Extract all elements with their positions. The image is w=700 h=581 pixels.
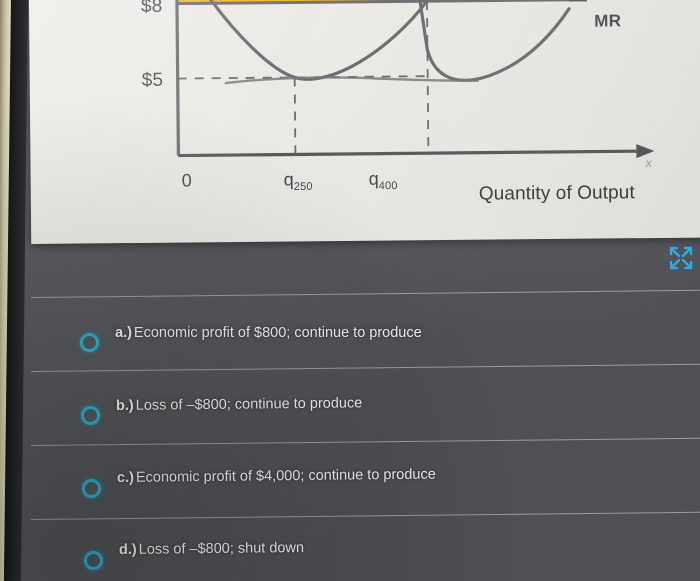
radio-button-a[interactable]: [80, 333, 99, 352]
option-label-c: c.)Economic profit of $4,000; continue t…: [117, 467, 436, 486]
q250-subscript: 250: [294, 181, 313, 193]
option-row-b[interactable]: b.)Loss of –$800; continue to produce: [25, 371, 700, 445]
screenshot-root: $8 $5 0 q250 q400 MR x Quantity of Outpu…: [0, 0, 700, 581]
radio-button-d[interactable]: [84, 551, 103, 570]
q250-base: q: [284, 169, 294, 189]
atc-curve: [208, 0, 467, 80]
chart-inner: $8 $5 0 q250 q400 MR x Quantity of Outpu…: [28, 0, 700, 244]
option-row-a[interactable]: a.)Economic profit of $800; continue to …: [25, 297, 700, 371]
option-letter-b: b.): [116, 398, 134, 414]
radio-button-b[interactable]: [81, 406, 100, 425]
option-label-b: b.)Loss of –$800; continue to produce: [116, 395, 362, 414]
x-tick-label-q400: q400: [369, 168, 398, 192]
mc-curve: [406, 0, 569, 81]
row-divider: [31, 290, 700, 298]
option-label-a: a.)Economic profit of $800; continue to …: [115, 325, 422, 341]
x-tick-label-q250: q250: [284, 169, 313, 193]
option-letter-d: d.): [119, 542, 137, 558]
q400-base: q: [369, 169, 379, 189]
option-text-d: Loss of –$800; shut down: [139, 540, 304, 558]
answer-options-list: a.)Economic profit of $800; continue to …: [25, 285, 700, 581]
option-row-c[interactable]: c.)Economic profit of $4,000; continue t…: [25, 445, 700, 519]
x-axis-variable-label: x: [645, 155, 652, 170]
option-text-c: Economic profit of $4,000; continue to p…: [136, 467, 436, 486]
option-text-a: Economic profit of $800; continue to pro…: [134, 325, 422, 341]
option-text-b: Loss of –$800; continue to produce: [136, 395, 363, 413]
option-letter-a: a.): [115, 325, 132, 341]
cost-curves-chart: [28, 0, 700, 244]
y-tick-label-8: $8: [141, 0, 163, 18]
y-tick-label-5: $5: [142, 70, 164, 92]
q400-subscript: 400: [379, 180, 398, 192]
expand-arrows-icon[interactable]: [668, 245, 694, 271]
q250-dashed-line: [295, 77, 296, 154]
q400-dashed-line: [427, 1, 428, 153]
option-letter-c: c.): [117, 470, 134, 486]
chart-panel: $8 $5 0 q250 q400 MR x Quantity of Outpu…: [28, 0, 700, 244]
radio-button-c[interactable]: [82, 479, 101, 498]
option-row-d[interactable]: d.)Loss of –$800; shut down: [25, 519, 700, 581]
option-label-d: d.)Loss of –$800; shut down: [119, 540, 304, 558]
x-axis-caption: Quantity of Output: [479, 182, 635, 205]
origin-label: 0: [182, 170, 192, 191]
x-axis: [178, 151, 636, 155]
mr-curve-label: MR: [594, 11, 621, 31]
